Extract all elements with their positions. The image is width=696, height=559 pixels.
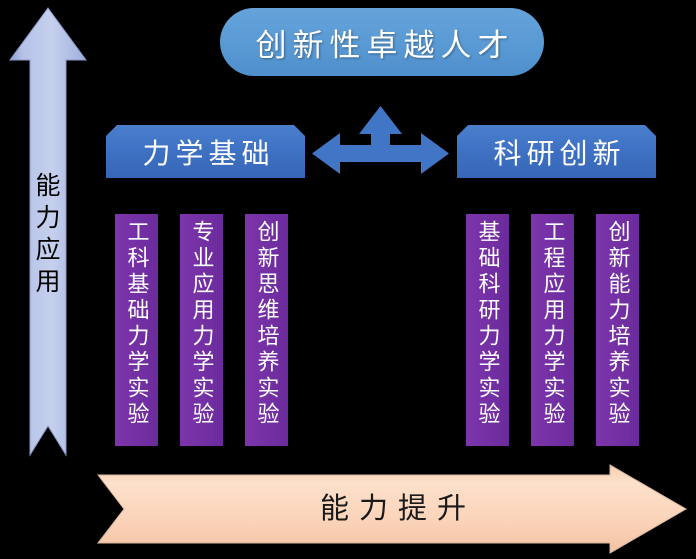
experiment-bar-label: 创新能力培养实验 bbox=[607, 214, 629, 428]
three-way-arrow-icon bbox=[310, 104, 451, 180]
experiment-bar-label: 工科基础力学实验 bbox=[126, 214, 148, 428]
pillar-left-heading: 力学基础 bbox=[106, 125, 305, 178]
experiment-bar-label: 创新思维培养实验 bbox=[256, 214, 278, 428]
pillar-right-heading: 科研创新 bbox=[457, 125, 656, 178]
title-box-label: 创新性卓越人才 bbox=[256, 20, 515, 65]
experiment-bar: 创新能力培养实验 bbox=[596, 214, 639, 446]
experiment-bar-label: 专业应用力学实验 bbox=[191, 214, 213, 428]
experiment-bar: 工科基础力学实验 bbox=[115, 214, 158, 446]
title-box: 创新性卓越人才 bbox=[220, 8, 544, 76]
diagram-canvas: 能力应用 创新性卓越人才 力学基础 科研创新 工科基础力学实验 专业应用力学实验… bbox=[0, 0, 696, 559]
experiment-bar-label: 基础科研力学实验 bbox=[477, 214, 499, 428]
pillar-left-heading-label: 力学基础 bbox=[142, 132, 274, 172]
experiment-bar-label: 工程应用力学实验 bbox=[542, 214, 564, 428]
pillar-right-heading-label: 科研创新 bbox=[493, 132, 625, 172]
experiment-bar: 工程应用力学实验 bbox=[531, 214, 574, 446]
capability-improvement-arrow bbox=[96, 461, 692, 555]
experiment-bar: 基础科研力学实验 bbox=[466, 214, 509, 446]
capability-application-arrow: 能力应用 bbox=[6, 6, 88, 466]
experiment-bar: 创新思维培养实验 bbox=[245, 214, 288, 446]
experiment-bar: 专业应用力学实验 bbox=[180, 214, 223, 446]
